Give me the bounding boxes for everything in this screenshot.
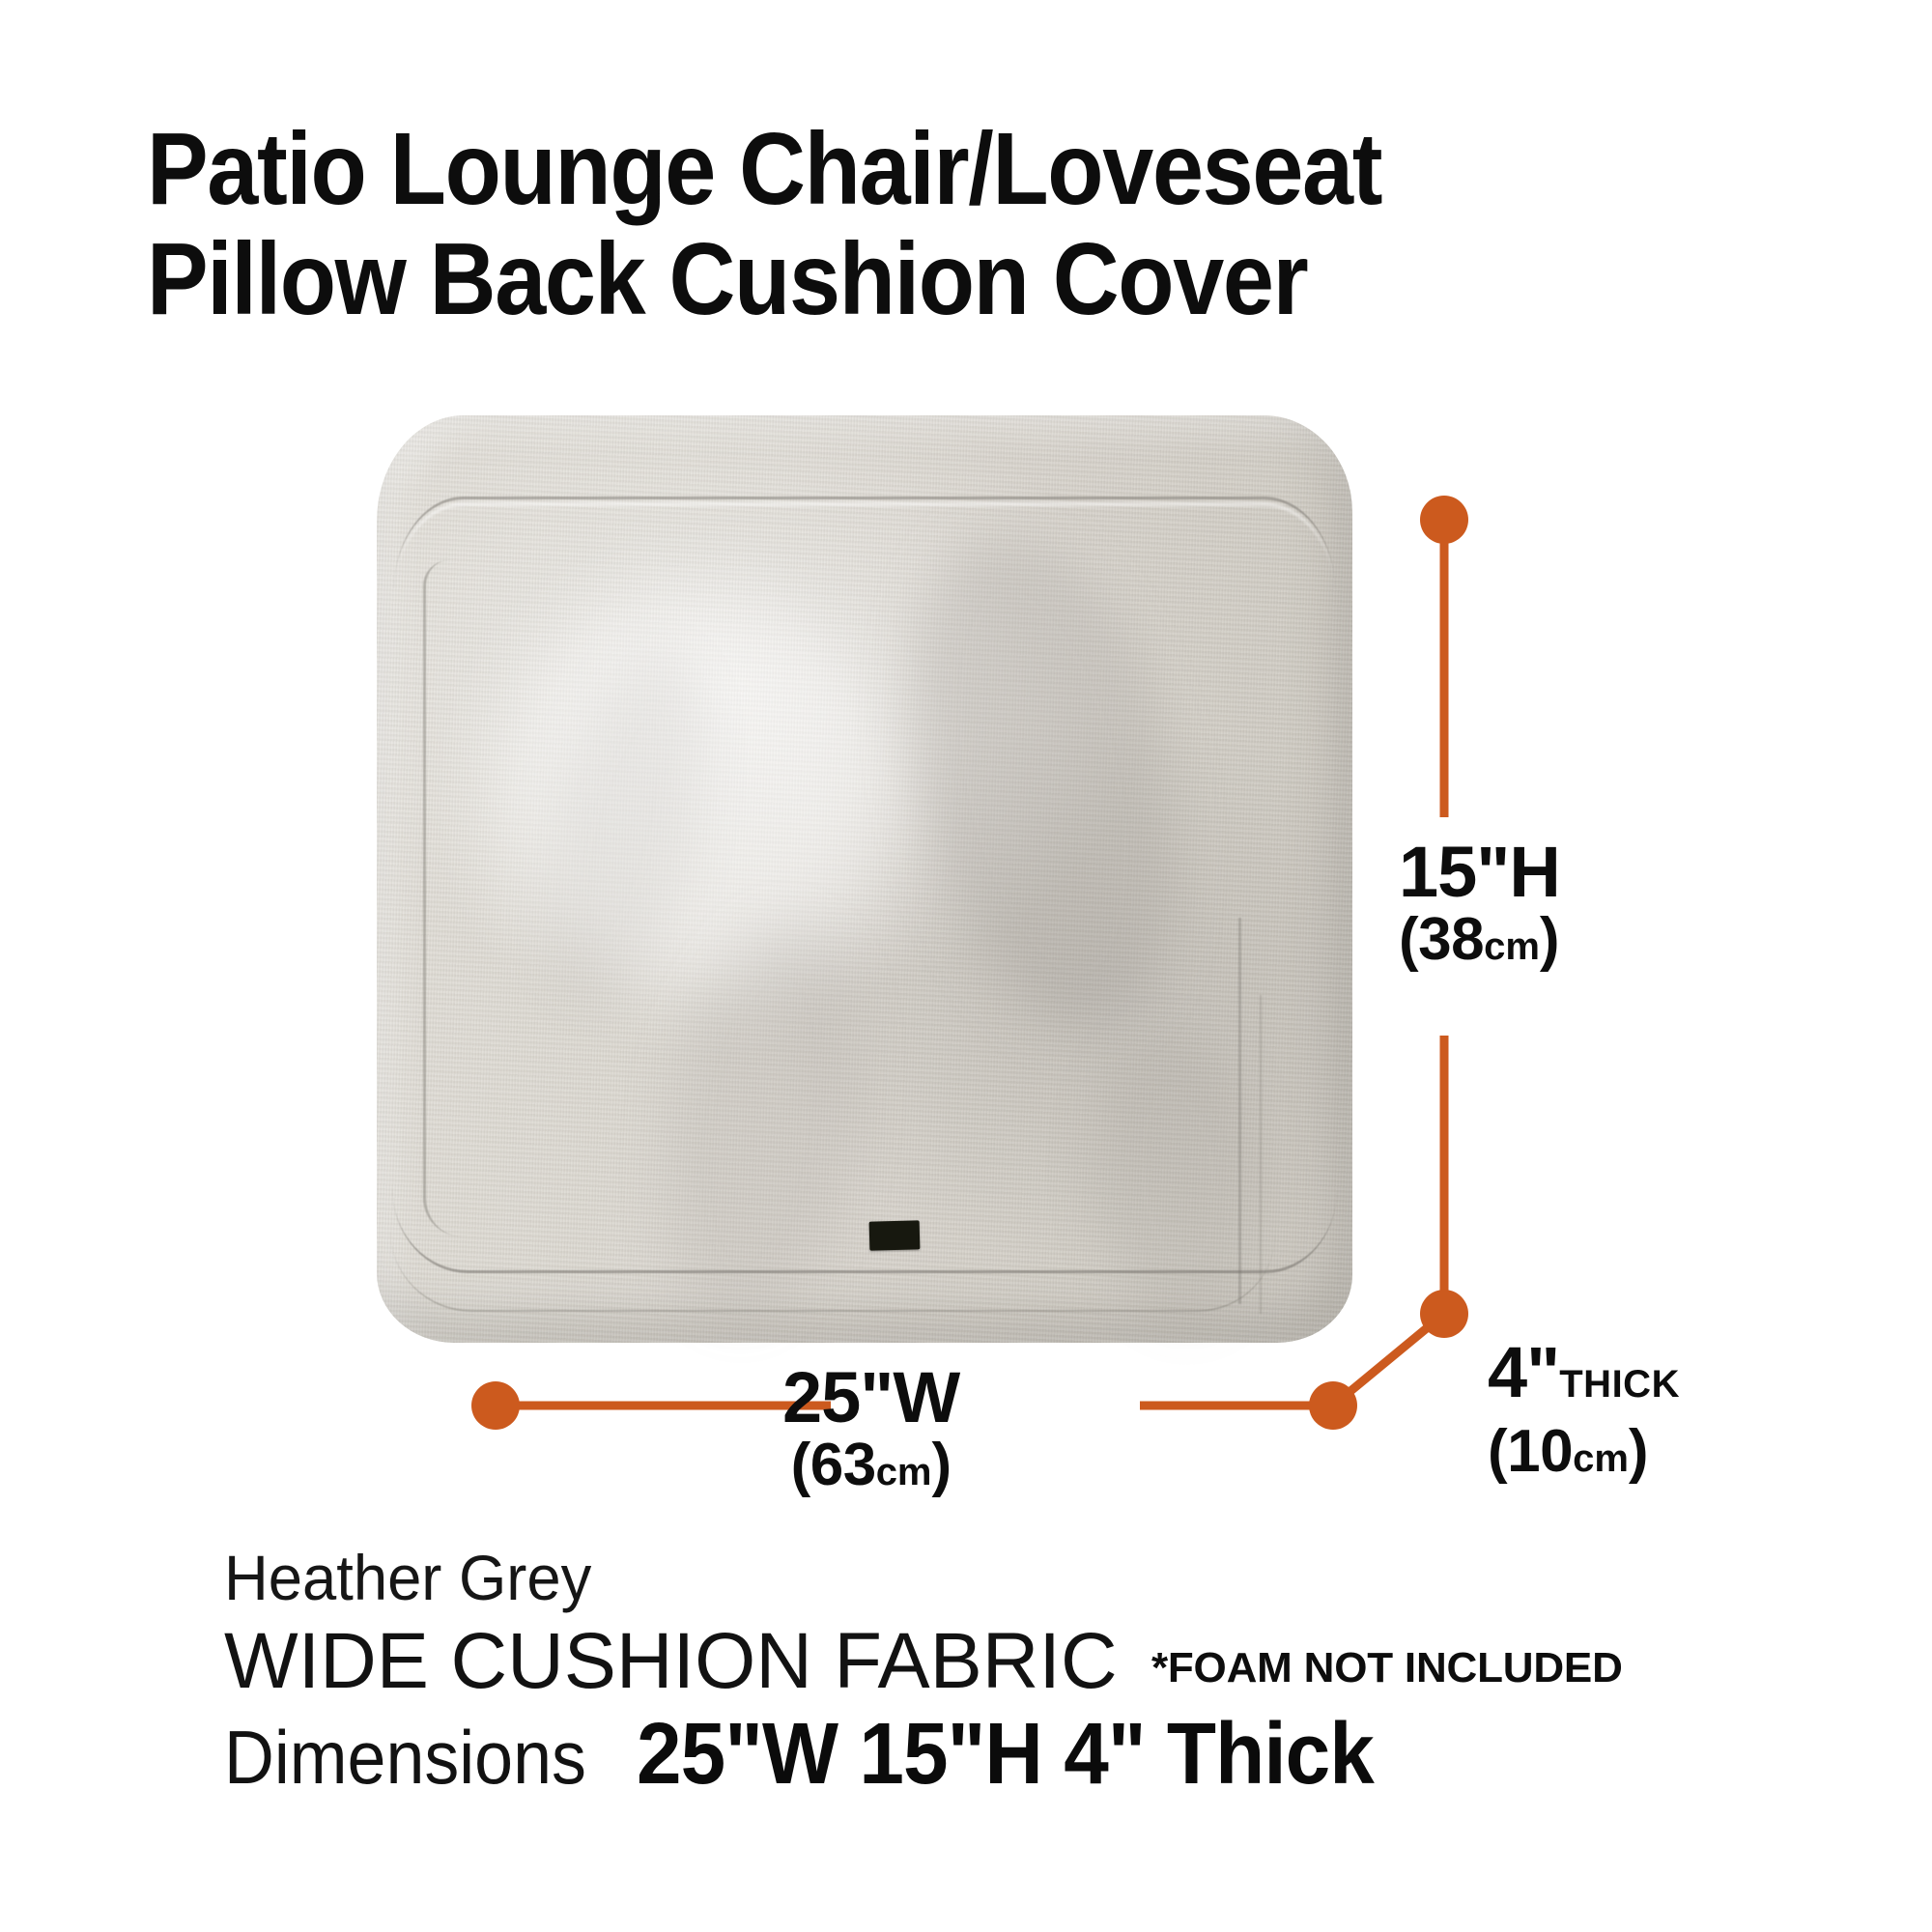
thickness-metric-close: ) [1629, 1418, 1648, 1485]
thickness-number: 4" [1488, 1332, 1559, 1412]
page-title-line-1: Patio Lounge Chair/Loveseat [147, 114, 1538, 224]
zipper-pull-tab [869, 1220, 921, 1250]
height-value-metric: (38cm) [1399, 908, 1560, 979]
width-dimension-label: 25"W (63cm) [782, 1362, 959, 1504]
width-value-metric: (63cm) [782, 1434, 959, 1504]
product-spec-footer: Heather Grey WIDE CUSHION FABRIC *FOAM N… [224, 1542, 1866, 1801]
cushion-body [377, 415, 1352, 1343]
width-left-endpoint-dot [471, 1381, 520, 1430]
dimensions-word-label: Dimensions [224, 1716, 586, 1799]
height-top-endpoint-dot [1420, 496, 1468, 544]
thickness-dimension-label: 4"THICK (10cm) [1488, 1337, 1680, 1491]
page-title-line-2: Pillow Back Cushion Cover [147, 224, 1538, 334]
thickness-suffix: THICK [1559, 1363, 1680, 1406]
width-metric-open: (63 [791, 1432, 876, 1498]
height-value-inches: 15"H [1399, 837, 1560, 908]
cushion-product-photo [377, 415, 1352, 1343]
width-right-endpoint-dot [1309, 1381, 1357, 1430]
page-title: Patio Lounge Chair/Loveseat Pillow Back … [147, 114, 1692, 334]
thickness-metric-unit: cm [1573, 1437, 1629, 1480]
thickness-metric-open: (10 [1488, 1418, 1573, 1485]
width-value-inches: 25"W [782, 1362, 959, 1434]
top-piping-highlight [394, 502, 1335, 667]
dimensions-row: Dimensions 25"W 15"H 4" Thick [224, 1708, 1866, 1801]
color-name-label: Heather Grey [224, 1542, 1801, 1613]
foam-not-included-note: *FOAM NOT INCLUDED [1151, 1644, 1623, 1692]
height-bottom-endpoint-dot [1420, 1290, 1468, 1338]
fabric-row: WIDE CUSHION FABRIC *FOAM NOT INCLUDED [224, 1619, 1866, 1704]
height-metric-open: (38 [1399, 906, 1484, 973]
height-dimension-label: 15"H (38cm) [1399, 837, 1560, 979]
width-metric-unit: cm [876, 1451, 932, 1493]
thickness-value-inches: 4"THICK [1488, 1337, 1680, 1420]
width-metric-close: ) [932, 1432, 952, 1498]
bottom-hem-seam [390, 1186, 1275, 1312]
product-image-canvas: Patio Lounge Chair/Loveseat Pillow Back … [0, 0, 1932, 1932]
height-metric-unit: cm [1484, 925, 1540, 968]
fabric-type-label: WIDE CUSHION FABRIC [224, 1619, 1118, 1704]
dimensions-value-label: 25"W 15"H 4" Thick [637, 1708, 1374, 1801]
thickness-value-metric: (10cm) [1488, 1420, 1680, 1491]
height-metric-close: ) [1540, 906, 1559, 973]
